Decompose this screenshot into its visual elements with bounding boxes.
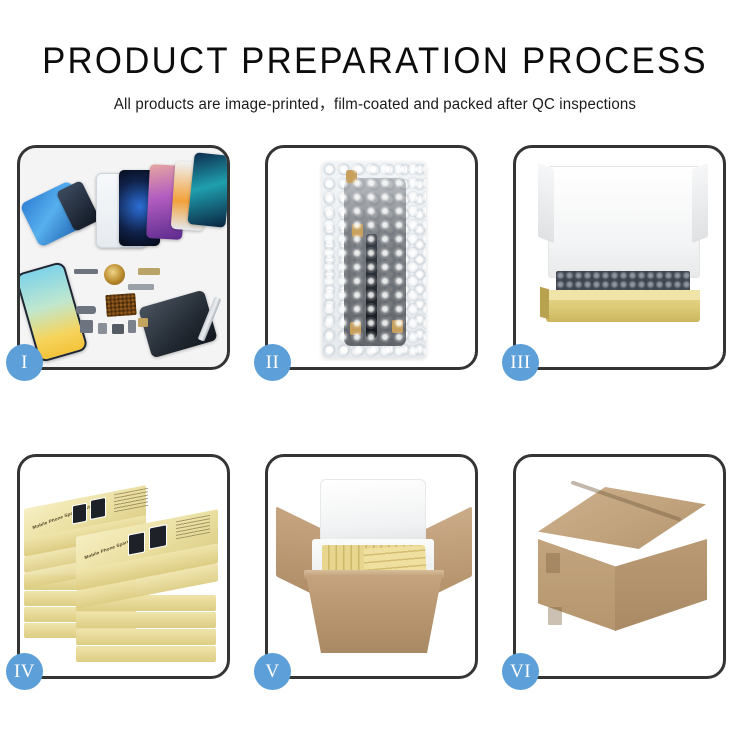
- button-part: [128, 320, 136, 333]
- yellow-box-side-flap: [540, 287, 549, 320]
- step-5-photo: [268, 457, 475, 676]
- carton-body: [306, 575, 442, 653]
- page-title: PRODUCT PREPARATION PROCESS: [23, 0, 728, 81]
- step-4-photo: Mobile Phone Spare Parts Mobile Phone Sp…: [20, 457, 227, 676]
- step-badge-5: V: [254, 653, 291, 690]
- box-edge-r2: [76, 612, 216, 628]
- process-step-4: Mobile Phone Spare Parts Mobile Phone Sp…: [17, 454, 230, 679]
- process-step-1: I: [17, 145, 230, 370]
- camera-module-part: [98, 323, 107, 334]
- bubble-wrap-bag: [322, 162, 426, 358]
- process-step-3: III: [513, 145, 726, 370]
- process-step-2: II: [265, 145, 478, 370]
- box-window-front-2: [149, 524, 167, 549]
- chip-array-part: [105, 293, 136, 317]
- connector-part: [76, 306, 96, 314]
- vibrator-part: [112, 324, 124, 334]
- gold-contact-part: [138, 318, 148, 327]
- step-badge-4: IV: [6, 653, 43, 690]
- flex-cable-part: [138, 268, 160, 275]
- speaker-coil-part: [104, 264, 125, 285]
- box-edge-r3: [76, 629, 216, 645]
- ic-chip-part: [80, 320, 93, 333]
- flex-strip-part: [74, 269, 98, 274]
- carton-tape-lower: [548, 607, 562, 625]
- box-text-block-front: [176, 515, 210, 540]
- box-window-back-1: [72, 503, 87, 525]
- page-subtitle: All products are image-printed，film-coat…: [11, 81, 739, 114]
- box-window-back-2: [90, 497, 106, 520]
- step-6-photo: [516, 457, 723, 676]
- box-lid-flap: [548, 166, 700, 278]
- yellow-box-front-edge: [546, 290, 700, 300]
- process-step-5: V: [265, 454, 478, 679]
- phone-teal: [187, 152, 227, 228]
- box-lid-side-left: [538, 163, 554, 243]
- process-step-grid: I II III: [17, 145, 733, 679]
- antenna-part: [128, 284, 154, 290]
- process-step-6: VI: [513, 454, 726, 679]
- step-badge-2: II: [254, 344, 291, 381]
- carton-side-face: [615, 539, 707, 631]
- box-window-front-1: [128, 531, 145, 555]
- carton-tape-upper: [546, 553, 560, 573]
- box-text-block-back: [114, 488, 148, 513]
- step-badge-6: VI: [502, 653, 539, 690]
- step-badge-3: III: [502, 344, 539, 381]
- step-badge-1: I: [6, 344, 43, 381]
- step-1-photo: [20, 148, 227, 367]
- foam-lid: [320, 479, 426, 543]
- box-edge-r4: [76, 646, 216, 662]
- step-2-photo: [268, 148, 475, 367]
- box-lid-side-right: [692, 163, 708, 243]
- page-header: PRODUCT PREPARATION PROCESS All products…: [0, 0, 750, 114]
- bubble-texture: [322, 162, 426, 358]
- step-3-photo: [516, 148, 723, 367]
